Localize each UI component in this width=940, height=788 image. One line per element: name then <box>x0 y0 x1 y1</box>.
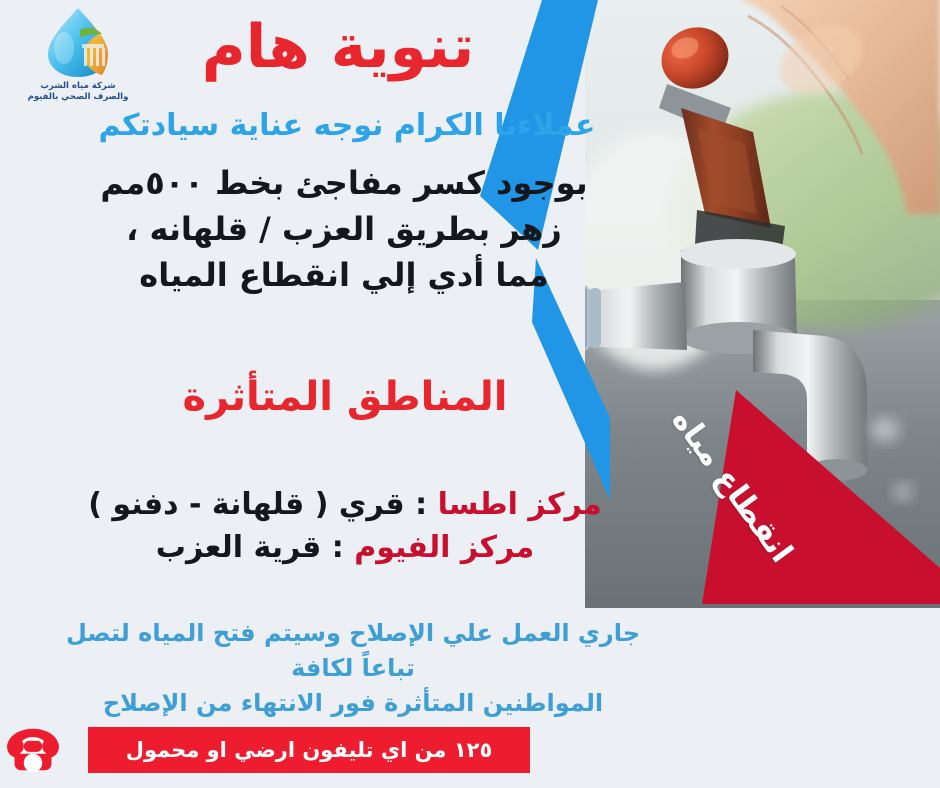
body-line-2: زهر بطريق العزب / قلهانه ، <box>0 206 688 252</box>
hotline-text: ١٢٥ من اي تليفون ارضي او محمول <box>88 727 530 773</box>
area-row: مركز الفيوم : قرية العزب <box>0 527 690 570</box>
area-villages: : قرية العزب <box>156 530 344 565</box>
poster-content: تنوية هام عملاءنا الكرام نوجه عناية سياد… <box>0 0 700 788</box>
telephone-icon <box>0 724 66 776</box>
hotline-bar: ١٢٥ من اي تليفون ارضي او محمول <box>0 722 530 778</box>
affected-areas-title: المناطق المتأثرة <box>0 374 700 420</box>
closing-line-2: المواطنين المتأثرة فور الانتهاء من الإصل… <box>36 686 670 721</box>
area-center-name: مركز الفيوم <box>354 530 534 565</box>
closing-message: جاري العمل علي الإصلاح وسيتم فتح المياه … <box>0 616 700 720</box>
page-title: تنوية هام <box>0 14 700 80</box>
subheadline: عملاءنا الكرام نوجه عناية سيادتكم <box>0 108 700 143</box>
body-line-1: بوجود كسر مفاجئ بخط ٥٠٠مم <box>0 160 688 206</box>
closing-line-1: جاري العمل علي الإصلاح وسيتم فتح المياه … <box>36 616 670 686</box>
announcement-body: بوجود كسر مفاجئ بخط ٥٠٠مم زهر بطريق العز… <box>0 160 700 298</box>
area-villages: : قري ( قلهانة - دفنو ) <box>88 487 427 522</box>
area-row: مركز اطسا : قري ( قلهانة - دفنو ) <box>0 484 690 527</box>
announcement-poster: انقطاع مياه <box>0 0 940 788</box>
affected-areas-list: مركز اطسا : قري ( قلهانة - دفنو ) مركز ا… <box>0 484 690 569</box>
area-center-name: مركز اطسا <box>438 487 602 522</box>
body-line-3: مما أدي إلي انقطاع المياه <box>0 252 688 298</box>
telephone-icon-glyph <box>3 726 63 774</box>
